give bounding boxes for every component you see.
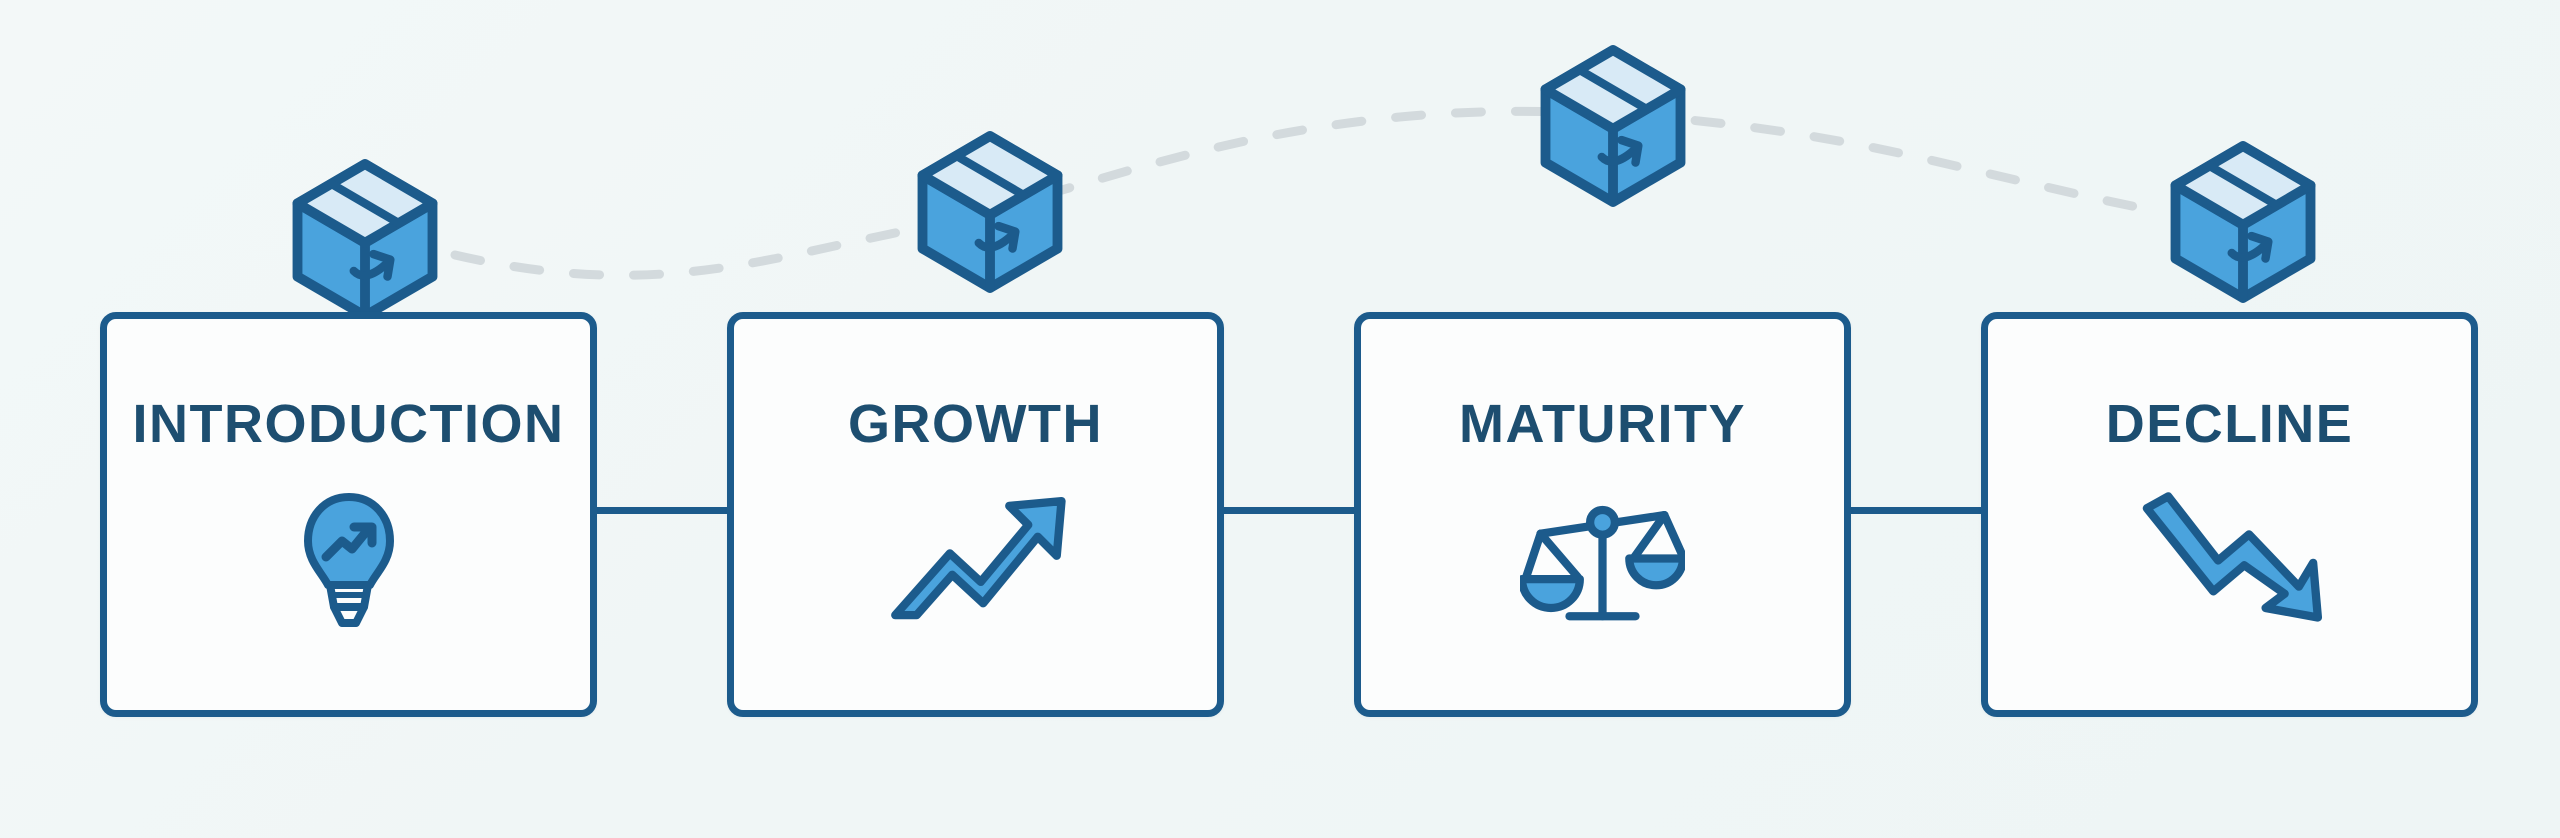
balance-scales-icon <box>1503 485 1703 635</box>
stage-label-introduction: INTRODUCTION <box>133 397 565 451</box>
package-box-icon-1 <box>280 150 450 330</box>
package-box-icon-4 <box>2158 132 2328 312</box>
arrow-trending-down-icon <box>2130 485 2330 635</box>
card-connector-1 <box>597 507 727 514</box>
infographic-canvas: INTRODUCTION GROWTH <box>0 0 2560 838</box>
stage-card-introduction[interactable]: INTRODUCTION <box>100 312 597 717</box>
stage-card-decline[interactable]: DECLINE <box>1981 312 2478 717</box>
stage-label-decline: DECLINE <box>2106 397 2354 451</box>
arrow-trending-up-icon <box>876 485 1076 635</box>
card-connector-2 <box>1224 507 1354 514</box>
lightbulb-trending-up-icon <box>249 485 449 635</box>
stage-card-growth[interactable]: GROWTH <box>727 312 1224 717</box>
package-box-icon-2 <box>905 122 1075 302</box>
stage-label-maturity: MATURITY <box>1459 397 1746 451</box>
dashed-connector-path <box>455 111 2165 275</box>
stage-label-growth: GROWTH <box>848 397 1103 451</box>
stage-card-row: INTRODUCTION GROWTH <box>0 312 2560 722</box>
stage-card-maturity[interactable]: MATURITY <box>1354 312 1851 717</box>
card-connector-3 <box>1851 507 1981 514</box>
package-box-icon-3 <box>1528 36 1698 216</box>
